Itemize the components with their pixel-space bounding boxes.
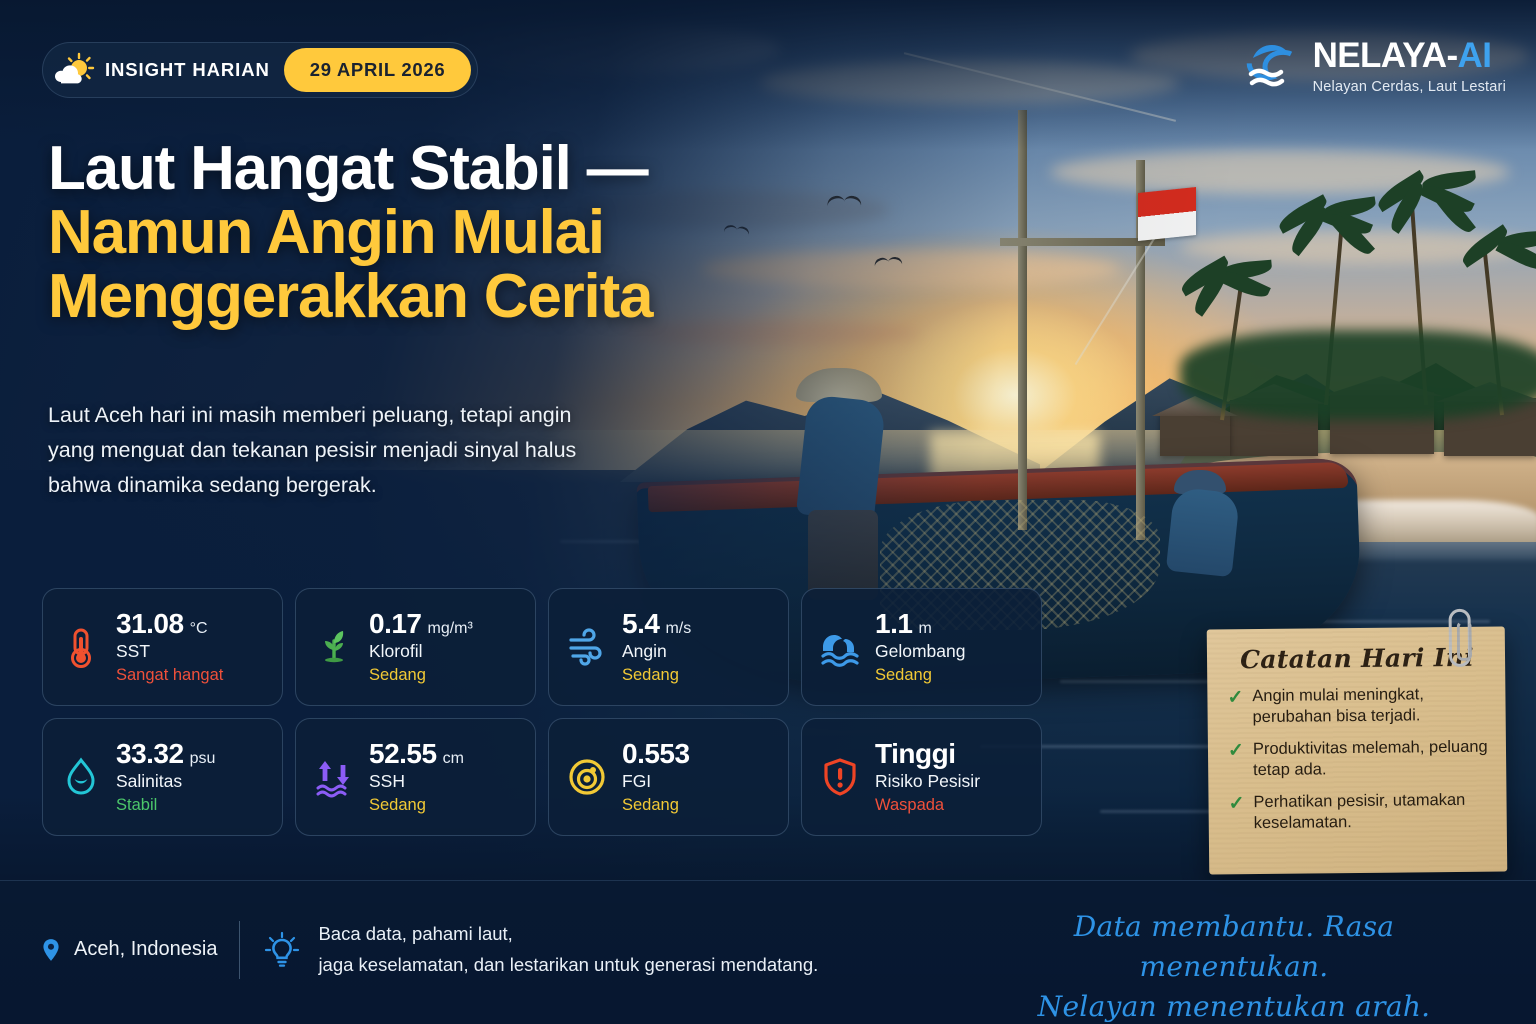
metric-name: SSH [369,771,464,793]
metric-name: Salinitas [116,771,215,793]
metric-unit: cm [443,750,464,768]
metric-unit: °C [190,620,208,638]
metric-name: Angin [622,641,691,663]
sun-behind-cloud-icon [51,48,95,92]
metric-value: Tinggi [875,739,955,770]
metric-status: Waspada [875,795,980,816]
note-item: ✓ Angin mulai meningkat, perubahan bisa … [1227,684,1487,729]
note-text: Produktivitas melemah, peluang tetap ada… [1253,737,1489,781]
tip-block: Baca data, pahami laut, jaga keselamatan… [262,919,818,980]
tagline-line-2: Nelayan menentukan arah. [984,987,1484,1024]
metric-value: 52.55 [369,739,437,770]
metric-status: Sedang [622,795,696,816]
lightbulb-icon [262,930,302,970]
headline-line-2: Namun Angin Mulai [48,201,808,265]
metric-name: FGI [622,771,696,793]
brand-name-main: NELAYA- [1313,36,1458,75]
date-pill: 29 APRIL 2026 [284,48,472,92]
metric-card-gelombang[interactable]: 1.1 m Gelombang Sedang [801,588,1042,706]
tip-line-2: jaga keselamatan, dan lestarikan untuk g… [318,950,818,981]
wind-icon [565,625,609,669]
metric-status: Sedang [622,665,691,686]
thermometer-icon [59,625,103,669]
note-text: Perhatikan pesisir, utamakan keselamatan… [1253,789,1489,833]
insight-badge: INSIGHT HARIAN 29 APRIL 2026 [42,42,478,98]
metric-name: Risiko Pesisir [875,771,980,793]
metric-value: 33.32 [116,739,184,770]
headline-line-1: Laut Hangat Stabil — [48,137,808,201]
check-mark-icon: ✓ [1227,686,1243,728]
lede-paragraph: Laut Aceh hari ini masih memberi peluang… [48,398,588,502]
metric-card-risiko-pesisir[interactable]: Tinggi Risiko Pesisir Waspada [801,718,1042,836]
metric-unit: m/s [665,620,691,638]
seedling-icon [312,625,356,669]
brand-logo: NELAYA-AI Nelayan Cerdas, Laut Lestari [1245,36,1506,95]
check-mark-icon: ✓ [1228,792,1244,834]
metric-value: 5.4 [622,609,659,640]
metrics-grid: 31.08 °C SST Sangat hangat 0.17 [42,588,1042,836]
shield-alert-icon [818,755,862,799]
metric-status: Sangat hangat [116,665,223,686]
footer-divider [239,921,240,979]
metric-unit: mg/m³ [428,620,473,638]
metric-value: 0.553 [622,739,690,770]
note-text: Angin mulai meningkat, perubahan bisa te… [1252,684,1488,728]
metric-value: 0.17 [369,609,422,640]
location-block: Aceh, Indonesia [38,937,217,963]
metric-card-sst[interactable]: 31.08 °C SST Sangat hangat [42,588,283,706]
brand-name-accent: AI [1458,36,1492,75]
headline-line-3: Menggerakkan Cerita [48,265,808,329]
note-item: ✓ Perhatikan pesisir, utamakan keselamat… [1228,789,1488,834]
footer-bar: Aceh, Indonesia Baca [0,880,1536,1024]
metric-status: Sedang [369,795,464,816]
tip-line-1: Baca data, pahami laut, [318,919,818,950]
footer-left: Aceh, Indonesia Baca [38,919,818,980]
check-mark-icon: ✓ [1228,739,1244,781]
metric-unit: psu [190,750,216,768]
target-rings-icon [565,755,609,799]
metric-name: Gelombang [875,641,965,663]
brand-tagline: Nelayan Cerdas, Laut Lestari [1313,79,1506,95]
infographic-poster: INSIGHT HARIAN 29 APRIL 2026 NELAYA-AI N… [0,0,1536,1024]
wave-icon [818,625,862,669]
wave-circle-logo-icon [1245,36,1301,92]
tagline-line-1: Data membantu. Rasa menentukan. [984,907,1484,987]
metric-card-klorofil[interactable]: 0.17 mg/m³ Klorofil Sedang [295,588,536,706]
insight-label: INSIGHT HARIAN [101,59,284,81]
metric-status: Sedang [369,665,473,686]
daily-notes-card: Catatan Hari Ini ✓ Angin mulai meningkat… [1207,626,1508,874]
metric-value: 31.08 [116,609,184,640]
brand-name: NELAYA-AI [1313,36,1492,75]
metric-name: SST [116,641,223,663]
metric-card-ssh[interactable]: 52.55 cm SSH Sedang [295,718,536,836]
water-drop-icon [59,755,103,799]
location-name: Aceh, Indonesia [74,938,217,961]
metric-card-salinitas[interactable]: 33.32 psu Salinitas Stabil [42,718,283,836]
metric-unit: m [918,620,931,638]
map-pin-icon [38,937,64,963]
footer-tagline: Data membantu. Rasa menentukan. Nelayan … [984,907,1484,1024]
metric-name: Klorofil [369,641,473,663]
paperclip-icon [1449,609,1472,667]
metric-status: Stabil [116,795,215,816]
metric-status: Sedang [875,665,965,686]
metric-card-fgi[interactable]: 0.553 FGI Sedang [548,718,789,836]
metric-card-angin[interactable]: 5.4 m/s Angin Sedang [548,588,789,706]
headline-block: Laut Hangat Stabil — Namun Angin Mulai M… [48,137,808,329]
metric-value: 1.1 [875,609,912,640]
up-down-arrows-water-icon [312,755,356,799]
note-item: ✓ Produktivitas melemah, peluang tetap a… [1228,737,1488,782]
